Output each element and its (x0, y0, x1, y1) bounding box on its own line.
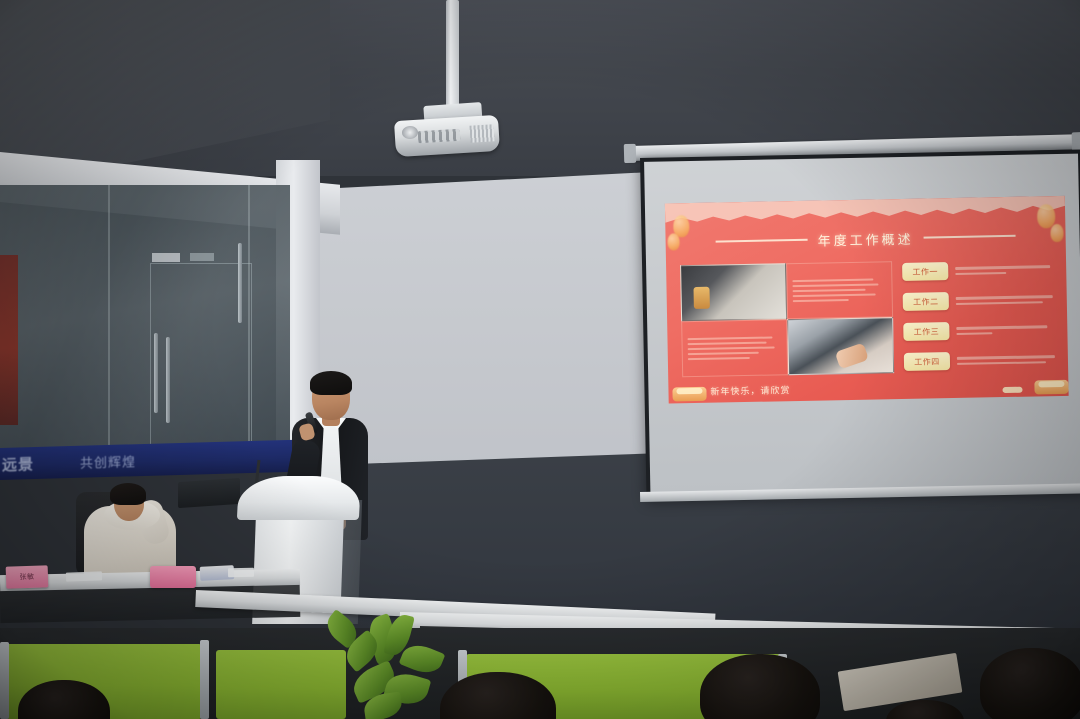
slide-footer-text: 新年快乐，请欣赏 (710, 383, 790, 398)
glass-mullion (108, 185, 110, 460)
slide-bullet-row: 工作四 (904, 350, 1056, 371)
door-handle-icon[interactable] (166, 337, 170, 423)
podium-top (237, 476, 361, 520)
slide-chip-1-label: 工作一 (912, 266, 938, 277)
presentation-room-photo: 远景 共创辉煌 年度工作概述 (0, 0, 1080, 719)
audience-head (886, 700, 964, 719)
projection-screen: 年度工作概述 (640, 150, 1080, 498)
slide-text-block-1 (786, 261, 893, 319)
slide-bullet-column: 工作一 工作二 (902, 258, 1056, 373)
title-rule-left (716, 239, 808, 242)
paper-sheet (66, 571, 102, 581)
name-card-text: 张敏 (19, 572, 34, 583)
door-handle-icon[interactable] (154, 333, 158, 413)
slide-photo-workbench (680, 263, 787, 321)
door-handle-icon[interactable] (238, 243, 242, 323)
green-chair (216, 650, 346, 719)
slide-title-row: 年度工作概述 (665, 222, 1065, 256)
banner-text-right: 共创辉煌 (80, 451, 136, 472)
slide-title: 年度工作概述 (817, 228, 913, 249)
roller-cap (1072, 132, 1080, 151)
audience-head (700, 654, 820, 719)
slide-bullet-row: 工作一 (902, 260, 1054, 281)
pink-pouch (150, 566, 196, 588)
slide-bullet-row: 工作三 (903, 320, 1055, 341)
slide-chip-3: 工作三 (903, 322, 949, 341)
slide-bullet-text-2 (956, 295, 1055, 305)
glass-partition (0, 185, 290, 460)
slide-chip-2-label: 工作二 (913, 296, 939, 307)
speaker-hair (310, 371, 352, 395)
screen-surface: 年度工作概述 (644, 154, 1080, 494)
potted-plant (330, 612, 470, 719)
slide-body: 工作一 工作二 (680, 258, 1056, 377)
slide-chip-1: 工作一 (902, 262, 948, 281)
door-sign (190, 253, 214, 261)
footer-cloud-decoration (1038, 381, 1064, 387)
slide-chip-4: 工作四 (904, 352, 950, 371)
slide-chip-4-label: 工作四 (914, 356, 940, 367)
red-wall-poster (0, 255, 18, 425)
slide-bullet-text-4 (957, 355, 1056, 365)
projector-mount-pole (446, 0, 459, 112)
audience-head (980, 648, 1080, 719)
slide-bullet-text-1 (955, 265, 1054, 275)
slide-chip-2: 工作二 (903, 292, 949, 311)
slide-text-block-2 (681, 319, 788, 377)
slide-photo-grid (680, 261, 894, 377)
door-plate (152, 253, 180, 262)
title-rule-right (924, 235, 1016, 238)
projected-slide: 年度工作概述 (665, 196, 1069, 404)
projector-vent (470, 124, 495, 142)
roller-cap (624, 144, 636, 163)
attendee-hair (110, 483, 146, 505)
name-card: 张敏 (6, 565, 49, 588)
paper-sheet (228, 568, 254, 577)
slide-chip-3-label: 工作三 (914, 326, 940, 337)
banner-text-left: 远景 (2, 453, 34, 475)
footer-cloud-decoration (676, 388, 702, 394)
projector-detail (418, 129, 461, 144)
slide-photo-desk-hands (787, 317, 894, 375)
audience-area (0, 628, 1080, 719)
footer-cloud-decoration (1002, 387, 1022, 393)
laptop-on-table (178, 478, 240, 508)
slide-footer: 新年快乐，请欣赏 (668, 372, 1068, 404)
slide-bullet-row: 工作二 (903, 290, 1055, 311)
chair-frame (0, 642, 9, 719)
chair-frame (200, 640, 209, 719)
slide-bullet-text-3 (956, 325, 1055, 335)
